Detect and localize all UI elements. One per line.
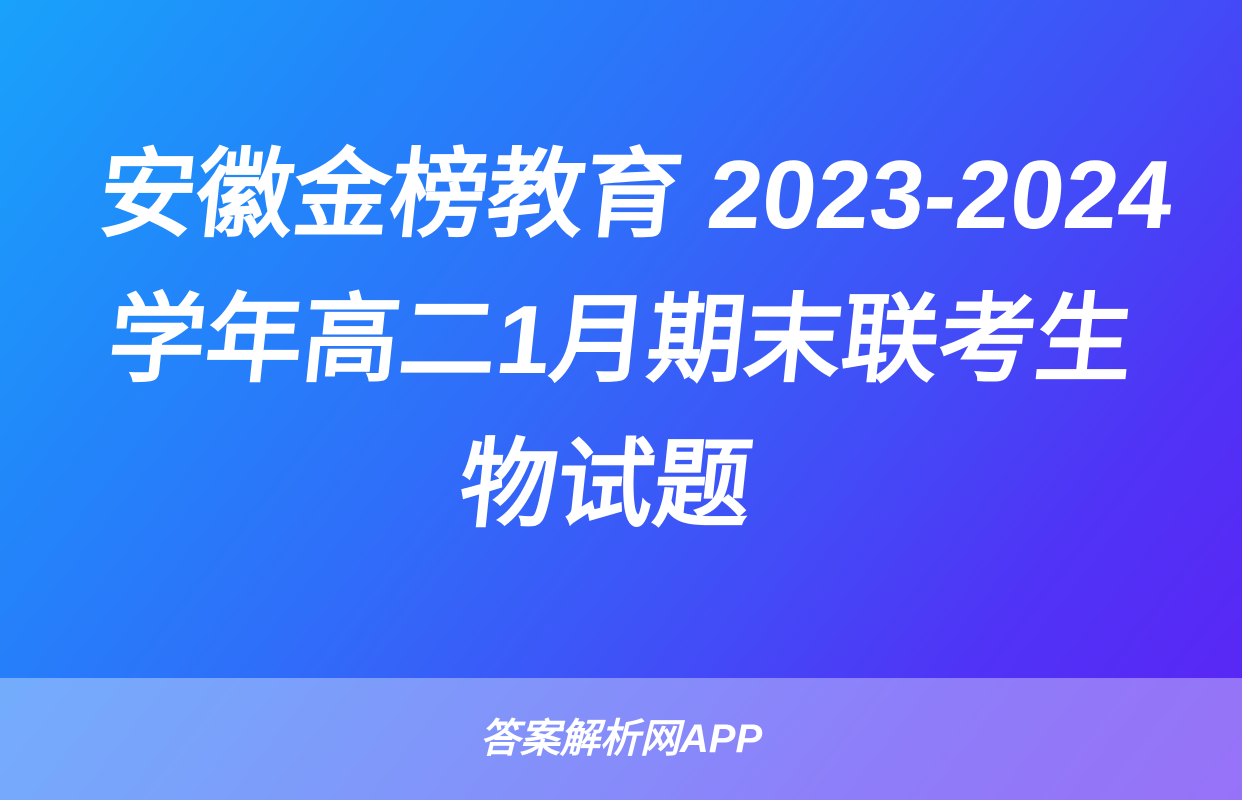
page-title: 安徽金榜教育 2023-2024学年高二1月期末联考生物试题: [49, 122, 1193, 557]
watermark-label: 答案解析网APP: [480, 717, 762, 761]
cover-card: 安徽金榜教育 2023-2024学年高二1月期末联考生物试题 答案解析网APP: [0, 0, 1242, 800]
title-block: 安徽金榜教育 2023-2024学年高二1月期末联考生物试题: [0, 0, 1242, 678]
watermark-band: 答案解析网APP: [0, 678, 1242, 800]
